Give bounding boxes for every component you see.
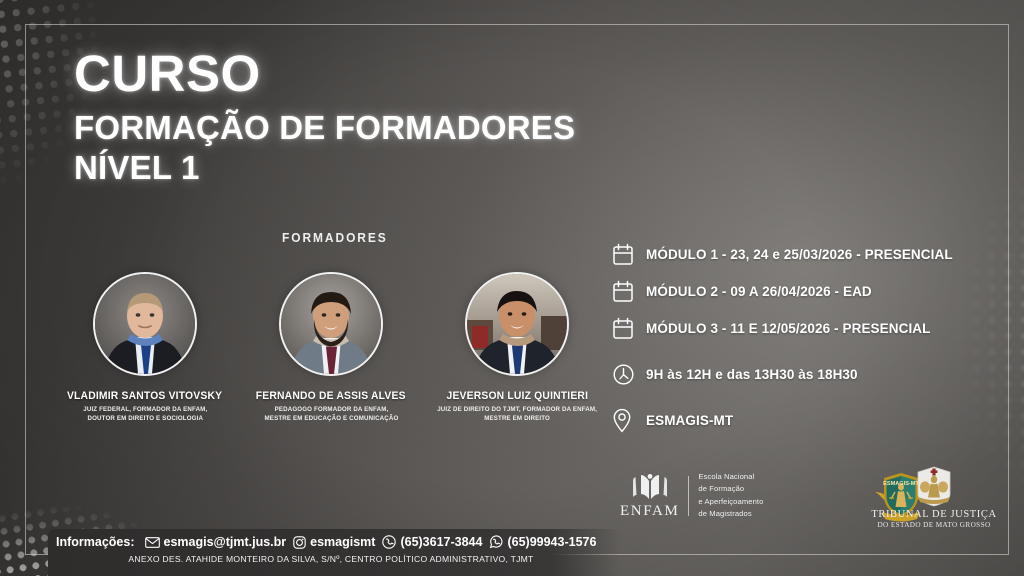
avatar — [465, 272, 569, 376]
tribunal-logo: TRIBUNAL DE JUSTIÇA DO ESTADO DE MATO GR… — [864, 466, 1004, 529]
contact-email[interactable]: esmagis@tjmt.jus.br — [145, 535, 287, 549]
calendar-icon — [612, 280, 646, 303]
detail-text: MÓDULO 3 - 11 E 12/05/2026 - PRESENCIAL — [646, 321, 931, 336]
trainer-role-line1: JUIZ FEDERAL, FORMADOR DA ENFAM, — [83, 405, 207, 414]
contact-phone-text: (65)3617-3844 — [400, 535, 482, 549]
portrait-jeverson-icon — [467, 274, 567, 374]
location-pin-icon — [612, 408, 646, 433]
detail-row-module-2: MÓDULO 2 - 09 A 26/04/2026 - EAD — [612, 273, 992, 309]
instagram-icon — [293, 536, 306, 549]
trainer-name: VLADIMIR SANTOS VITOVSKY — [67, 390, 222, 402]
contact-address: ANEXO DES. ATAHIDE MONTEIRO DA SILVA, S/… — [56, 554, 620, 564]
enfam-tagline: Escola Nacional de Formação e Aperfeiçoa… — [698, 471, 763, 520]
portrait-fernando-icon — [281, 274, 381, 374]
contact-label: Informações: — [56, 535, 135, 549]
detail-row-module-3: MÓDULO 3 - 11 E 12/05/2026 - PRESENCIAL — [612, 310, 992, 346]
trainer-role-line2: DOUTOR EM DIREITO E SOCIOLOGIA — [83, 414, 207, 423]
trainer-role-line2: MESTRE EM DIREITO — [437, 414, 597, 423]
trainers-list: VLADIMIR SANTOS VITOVSKY JUIZ FEDERAL, F… — [52, 272, 612, 424]
clock-icon — [612, 363, 646, 386]
page-title: CURSO — [74, 48, 575, 100]
enfam-tagline-line1: Escola Nacional — [698, 471, 763, 483]
trainer-role-line2: MESTRE EM EDUCAÇÃO E COMUNICAÇÃO — [264, 414, 398, 423]
course-subtitle: FORMAÇÃO DE FORMADORES NÍVEL 1 — [74, 108, 575, 189]
avatar — [279, 272, 383, 376]
avatar — [93, 272, 197, 376]
enfam-tagline-line3: e Aperfeiçoamento — [698, 496, 763, 508]
trainers-section-label: FORMADORES — [282, 230, 388, 245]
trainer-card: JEVERSON LUIZ QUINTIERI JUIZ DE DIREITO … — [424, 272, 610, 424]
open-book-icon — [631, 472, 669, 502]
detail-text: 9H às 12H e das 13H30 às 18H30 — [646, 367, 858, 382]
enfam-wordmark: ENFAM — [620, 503, 679, 520]
tribunal-name-line2: DO ESTADO DE MATO GROSSO — [877, 521, 990, 529]
course-subtitle-line2: NÍVEL 1 — [74, 148, 575, 188]
trainer-role-line1: JUIZ DE DIREITO DO TJMT, FORMADOR DA ENF… — [437, 405, 597, 414]
detail-text: MÓDULO 1 - 23, 24 e 25/03/2026 - PRESENC… — [646, 247, 953, 262]
phone-icon — [382, 535, 396, 549]
trainer-name: JEVERSON LUIZ QUINTIERI — [446, 390, 588, 402]
detail-row-module-1: MÓDULO 1 - 23, 24 e 25/03/2026 - PRESENC… — [612, 236, 992, 272]
portrait-vladimir-icon — [95, 274, 195, 374]
logo-divider — [688, 476, 689, 516]
tribunal-name-line1: TRIBUNAL DE JUSTIÇA — [871, 509, 996, 520]
contact-instagram[interactable]: esmagismt — [293, 535, 375, 549]
detail-row-schedule: 9H às 12H e das 13H30 às 18H30 — [612, 356, 992, 392]
contact-whatsapp-text: (65)99943-1576 — [507, 535, 596, 549]
trainer-card: VLADIMIR SANTOS VITOVSKY JUIZ FEDERAL, F… — [52, 272, 238, 424]
course-subtitle-line1: FORMAÇÃO DE FORMADORES — [74, 109, 575, 146]
poster-canvas: CURSO FORMAÇÃO DE FORMADORES NÍVEL 1 FOR… — [0, 0, 1024, 576]
enfam-tagline-line2: de Formação — [698, 483, 763, 495]
trainer-card: FERNANDO DE ASSIS ALVES PEDAGOGO FORMADO… — [238, 272, 424, 424]
contact-phone[interactable]: (65)3617-3844 — [382, 535, 482, 549]
detail-row-location: ESMAGIS-MT — [612, 402, 992, 438]
calendar-icon — [612, 243, 646, 266]
contact-footer-bar: Informações: esmagis@tjmt.jus.br esmagis… — [48, 529, 620, 576]
mail-icon — [145, 537, 160, 548]
detail-text: MÓDULO 2 - 09 A 26/04/2026 - EAD — [646, 284, 872, 299]
headline-block: CURSO FORMAÇÃO DE FORMADORES NÍVEL 1 — [74, 48, 575, 189]
trainer-name: FERNANDO DE ASSIS ALVES — [256, 390, 406, 402]
contact-row: Informações: esmagis@tjmt.jus.br esmagis… — [56, 535, 620, 549]
trainer-role-line1: PEDAGOGO FORMADOR DA ENFAM, — [264, 405, 398, 414]
course-details-list: MÓDULO 1 - 23, 24 e 25/03/2026 - PRESENC… — [612, 236, 992, 439]
logo-row: ENFAM Escola Nacional de Formação e Aper… — [612, 466, 1004, 528]
contact-whatsapp[interactable]: (65)99943-1576 — [489, 535, 596, 549]
tribunal-crest-icon — [906, 466, 962, 508]
contact-instagram-text: esmagismt — [310, 535, 375, 549]
whatsapp-icon — [489, 535, 503, 549]
calendar-icon — [612, 317, 646, 340]
contact-email-text: esmagis@tjmt.jus.br — [164, 535, 287, 549]
trainer-role: JUIZ FEDERAL, FORMADOR DA ENFAM, DOUTOR … — [83, 405, 207, 424]
enfam-tagline-line4: de Magistrados — [698, 508, 763, 520]
trainer-role: PEDAGOGO FORMADOR DA ENFAM, MESTRE EM ED… — [264, 405, 398, 424]
trainer-role: JUIZ DE DIREITO DO TJMT, FORMADOR DA ENF… — [437, 405, 597, 424]
detail-text: ESMAGIS-MT — [646, 413, 733, 428]
enfam-mark: ENFAM — [620, 472, 679, 520]
enfam-logo: ENFAM Escola Nacional de Formação e Aper… — [620, 471, 763, 520]
